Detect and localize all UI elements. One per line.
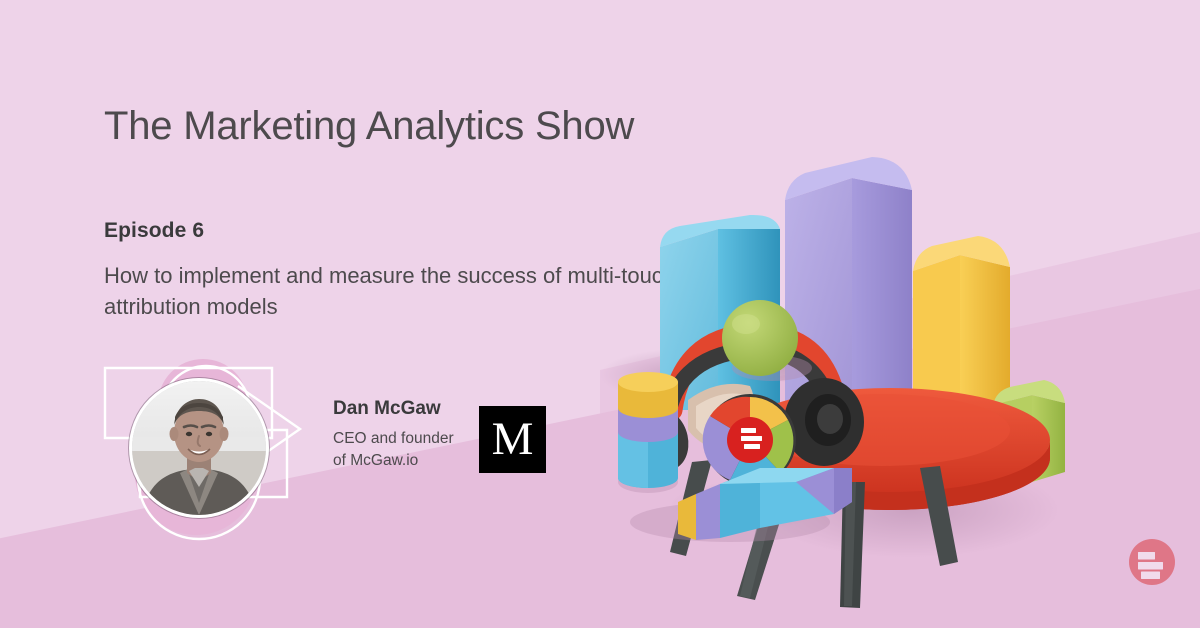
stacked-cylinder bbox=[618, 372, 678, 493]
episode-cover-canvas: The Marketing Analytics Show Episode 6 H… bbox=[0, 0, 1200, 628]
avatar bbox=[129, 378, 269, 518]
speaker-role-line-1: CEO and founder bbox=[333, 428, 473, 450]
speaker-info: Dan McGaw CEO and founder of McGaw.io bbox=[333, 398, 473, 473]
illustration-scene bbox=[600, 110, 1200, 628]
speaker-role-line-2: of McGaw.io bbox=[333, 450, 473, 472]
medium-logo: M bbox=[479, 406, 546, 473]
episode-number-label: Episode 6 bbox=[104, 219, 204, 243]
avatar-portrait-image bbox=[132, 381, 266, 515]
speaker-name: Dan McGaw bbox=[333, 398, 473, 421]
episode-description: How to implement and measure the success… bbox=[104, 260, 684, 322]
